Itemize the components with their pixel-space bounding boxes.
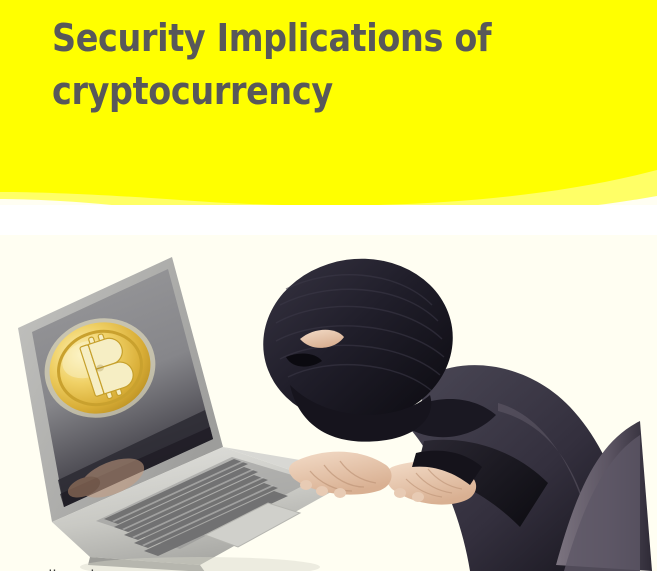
page-title: Security Implications of cryptocurrency [52,12,522,118]
photo-illustration [0,235,657,571]
hacker-with-bitcoin-laptop-photo: clipped [0,235,657,571]
yellow-wave-banner: Security Implications of cryptocurrency [0,0,657,232]
page-title-line-2: cryptocurrency [52,65,466,118]
slide-root: Security Implications of cryptocurrency [0,0,657,571]
page-title-line-1: Security Implications of [52,12,466,65]
